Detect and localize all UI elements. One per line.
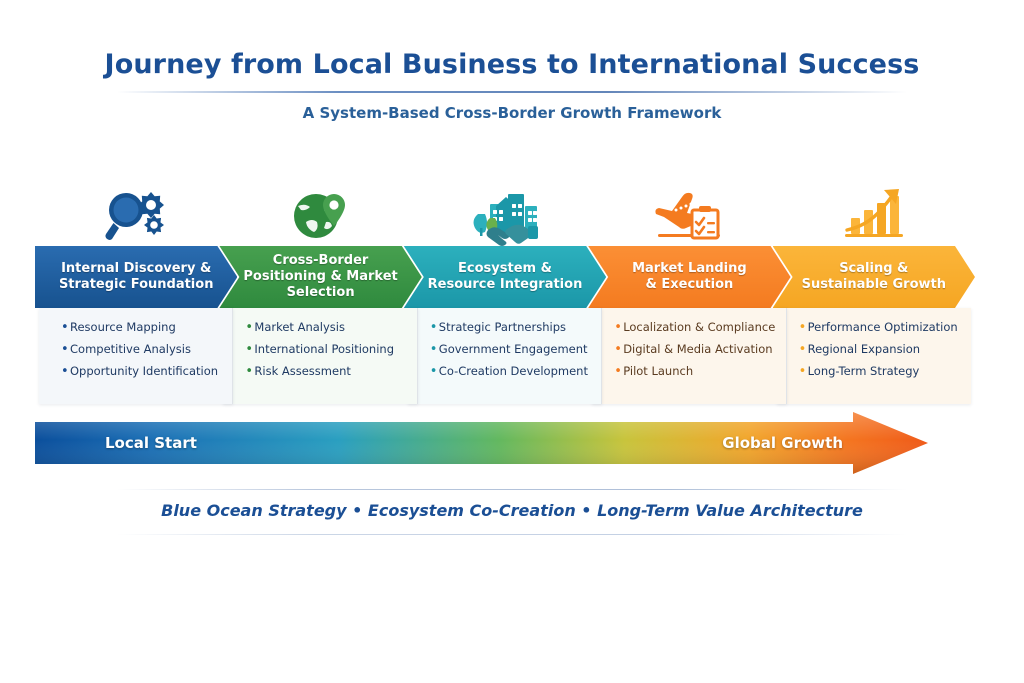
stage-panel-internal-discovery: •Resource Mapping•Competitive Analysis•O…	[39, 308, 233, 404]
stage-title-line-1: Market Landing	[632, 261, 747, 277]
bullet-label: Pilot Launch	[623, 365, 693, 378]
progress-arrow: Local Start Global Growth	[35, 412, 928, 474]
growth-chart-icon	[837, 184, 911, 246]
stage-icon-wrapper	[219, 168, 421, 246]
bullet-label: Regional Expansion	[808, 343, 920, 356]
title-divider	[117, 91, 907, 93]
list-item: •International Positioning	[245, 343, 412, 356]
bullet-dot-icon: •	[61, 365, 70, 378]
airplane-checklist-icon	[652, 184, 726, 246]
stage-icon-wrapper	[773, 168, 975, 246]
bullet-label: Opportunity Identification	[70, 365, 218, 378]
stage-banner-cross-border-positioning[interactable]: Cross-BorderPositioning & MarketSelectio…	[219, 246, 421, 308]
bullet-label: Competitive Analysis	[70, 343, 191, 356]
magnifier-gears-icon	[99, 184, 173, 246]
footer-text: Blue Ocean Strategy • Ecosystem Co-Creat…	[0, 501, 1024, 520]
stage-banner-internal-discovery[interactable]: Internal Discovery &Strategic Foundation	[35, 246, 237, 308]
bullet-dot-icon: •	[61, 343, 70, 356]
footer-divider-bottom	[117, 534, 907, 535]
bullet-dot-icon: •	[61, 321, 70, 334]
stage-ecosystem-resource-integration[interactable]: Ecosystem &Resource Integration•Strategi…	[404, 168, 606, 408]
bullet-dot-icon: •	[430, 321, 439, 334]
list-item: •Risk Assessment	[245, 365, 412, 378]
bullet-label: Digital & Media Activation	[623, 343, 772, 356]
page-subtitle: A System-Based Cross-Border Growth Frame…	[0, 104, 1024, 122]
stage-title-line-1: Scaling &	[802, 261, 946, 277]
footer-divider-top	[117, 489, 907, 490]
list-item: •Market Analysis	[245, 321, 412, 334]
bullet-dot-icon: •	[614, 365, 623, 378]
stage-banner-scaling-sustainable-growth[interactable]: Scaling &Sustainable Growth	[773, 246, 975, 308]
stage-panel-market-landing-execution: •Localization & Compliance•Digital & Med…	[592, 308, 786, 404]
stage-icon-wrapper	[404, 168, 606, 246]
stage-banner-market-landing-execution[interactable]: Market Landing& Execution	[588, 246, 790, 308]
bullet-label: Government Engagement	[439, 343, 588, 356]
stage-panel-cross-border-positioning: •Market Analysis•International Positioni…	[223, 308, 417, 404]
bullet-label: Co-Creation Development	[439, 365, 588, 378]
bullet-label: Strategic Partnerships	[439, 321, 566, 334]
stage-title-line-2: Resource Integration	[428, 277, 583, 293]
progress-start-label: Local Start	[105, 412, 197, 474]
list-item: •Pilot Launch	[614, 365, 781, 378]
bullet-dot-icon: •	[430, 365, 439, 378]
list-item: •Digital & Media Activation	[614, 343, 781, 356]
list-item: •Co-Creation Development	[430, 365, 597, 378]
stage-scaling-sustainable-growth[interactable]: Scaling &Sustainable Growth•Performance …	[773, 168, 975, 408]
header: Journey from Local Business to Internati…	[0, 48, 1024, 122]
stage-title-line-1: Internal Discovery &	[59, 261, 214, 277]
bullet-label: Performance Optimization	[808, 321, 958, 334]
city-handshake-icon	[468, 184, 542, 246]
stage-icon-wrapper	[35, 168, 237, 246]
bullet-dot-icon: •	[245, 321, 254, 334]
bullet-label: Long-Term Strategy	[808, 365, 920, 378]
stage-panel-scaling-sustainable-growth: •Performance Optimization•Regional Expan…	[777, 308, 971, 404]
page-title: Journey from Local Business to Internati…	[0, 48, 1024, 82]
infographic-canvas: Journey from Local Business to Internati…	[0, 0, 1024, 683]
list-item: •Performance Optimization	[799, 321, 967, 334]
list-item: •Resource Mapping	[61, 321, 228, 334]
stage-title-line-3: Selection	[243, 285, 397, 301]
globe-pin-icon	[284, 184, 358, 246]
bullet-dot-icon: •	[799, 321, 808, 334]
list-item: •Regional Expansion	[799, 343, 967, 356]
stage-title-line-1: Ecosystem &	[428, 261, 583, 277]
stage-title-line-1: Cross-Border	[243, 253, 397, 269]
stage-title-line-2: Sustainable Growth	[802, 277, 946, 293]
stage-icon-wrapper	[588, 168, 790, 246]
bullet-dot-icon: •	[245, 365, 254, 378]
bullet-dot-icon: •	[430, 343, 439, 356]
bullet-label: Market Analysis	[254, 321, 345, 334]
stage-panel-ecosystem-resource-integration: •Strategic Partnerships•Government Engag…	[408, 308, 602, 404]
list-item: •Opportunity Identification	[61, 365, 228, 378]
stage-title-line-2: Positioning & Market	[243, 269, 397, 285]
stage-banner-ecosystem-resource-integration[interactable]: Ecosystem &Resource Integration	[404, 246, 606, 308]
bullet-label: International Positioning	[254, 343, 394, 356]
bullet-dot-icon: •	[245, 343, 254, 356]
bullet-label: Localization & Compliance	[623, 321, 775, 334]
bullet-label: Risk Assessment	[254, 365, 350, 378]
stage-cross-border-positioning[interactable]: Cross-BorderPositioning & MarketSelectio…	[219, 168, 421, 408]
list-item: •Government Engagement	[430, 343, 597, 356]
bullet-dot-icon: •	[614, 321, 623, 334]
bullet-dot-icon: •	[799, 343, 808, 356]
list-item: •Strategic Partnerships	[430, 321, 597, 334]
bullet-dot-icon: •	[614, 343, 623, 356]
stage-market-landing-execution[interactable]: Market Landing& Execution•Localization &…	[588, 168, 790, 408]
list-item: •Localization & Compliance	[614, 321, 781, 334]
stage-title-line-2: & Execution	[632, 277, 747, 293]
list-item: •Competitive Analysis	[61, 343, 228, 356]
stage-internal-discovery[interactable]: Internal Discovery &Strategic Foundation…	[35, 168, 237, 408]
progress-end-label: Global Growth	[722, 412, 843, 474]
bullet-dot-icon: •	[799, 365, 808, 378]
stage-strip: Internal Discovery &Strategic Foundation…	[35, 168, 975, 408]
stage-title-line-2: Strategic Foundation	[59, 277, 214, 293]
list-item: •Long-Term Strategy	[799, 365, 967, 378]
bullet-label: Resource Mapping	[70, 321, 176, 334]
